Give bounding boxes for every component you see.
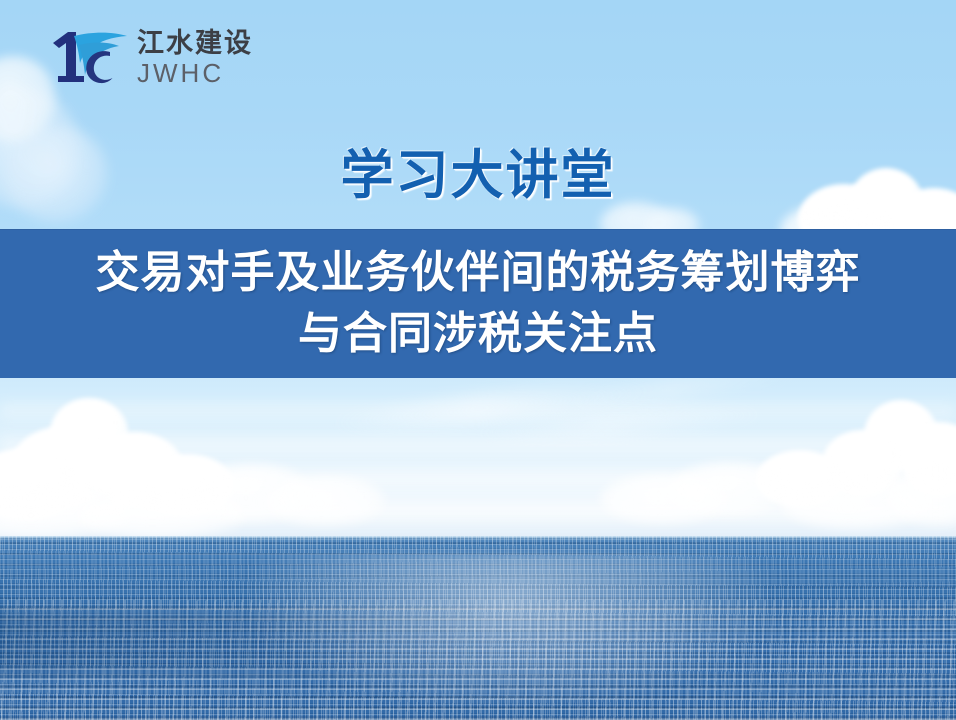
cloud bbox=[0, 392, 410, 542]
cloud bbox=[600, 400, 956, 540]
logo-company-name-en: JWHC bbox=[137, 60, 253, 86]
page-title: 学习大讲堂 bbox=[0, 133, 956, 209]
title-slide: 江水建设 JWHC 学习大讲堂 交易对手及业务伙伴间的税务筹划博弈 与合同涉税关… bbox=[0, 0, 956, 720]
ocean-background bbox=[0, 536, 956, 720]
logo-company-name-cn: 江水建设 bbox=[137, 30, 253, 57]
logo-wordmark: 江水建设 JWHC bbox=[137, 28, 253, 86]
subtitle-banner: 交易对手及业务伙伴间的税务筹划博弈 与合同涉税关注点 bbox=[0, 229, 956, 378]
subtitle-line-1: 交易对手及业务伙伴间的税务筹划博弈 bbox=[96, 244, 861, 302]
subtitle-line-2: 与合同涉税关注点 bbox=[298, 305, 658, 363]
jwhc-swoosh-logo-mark bbox=[48, 28, 128, 86]
company-logo: 江水建设 JWHC bbox=[48, 28, 253, 86]
wave-sweep bbox=[0, 610, 490, 672]
